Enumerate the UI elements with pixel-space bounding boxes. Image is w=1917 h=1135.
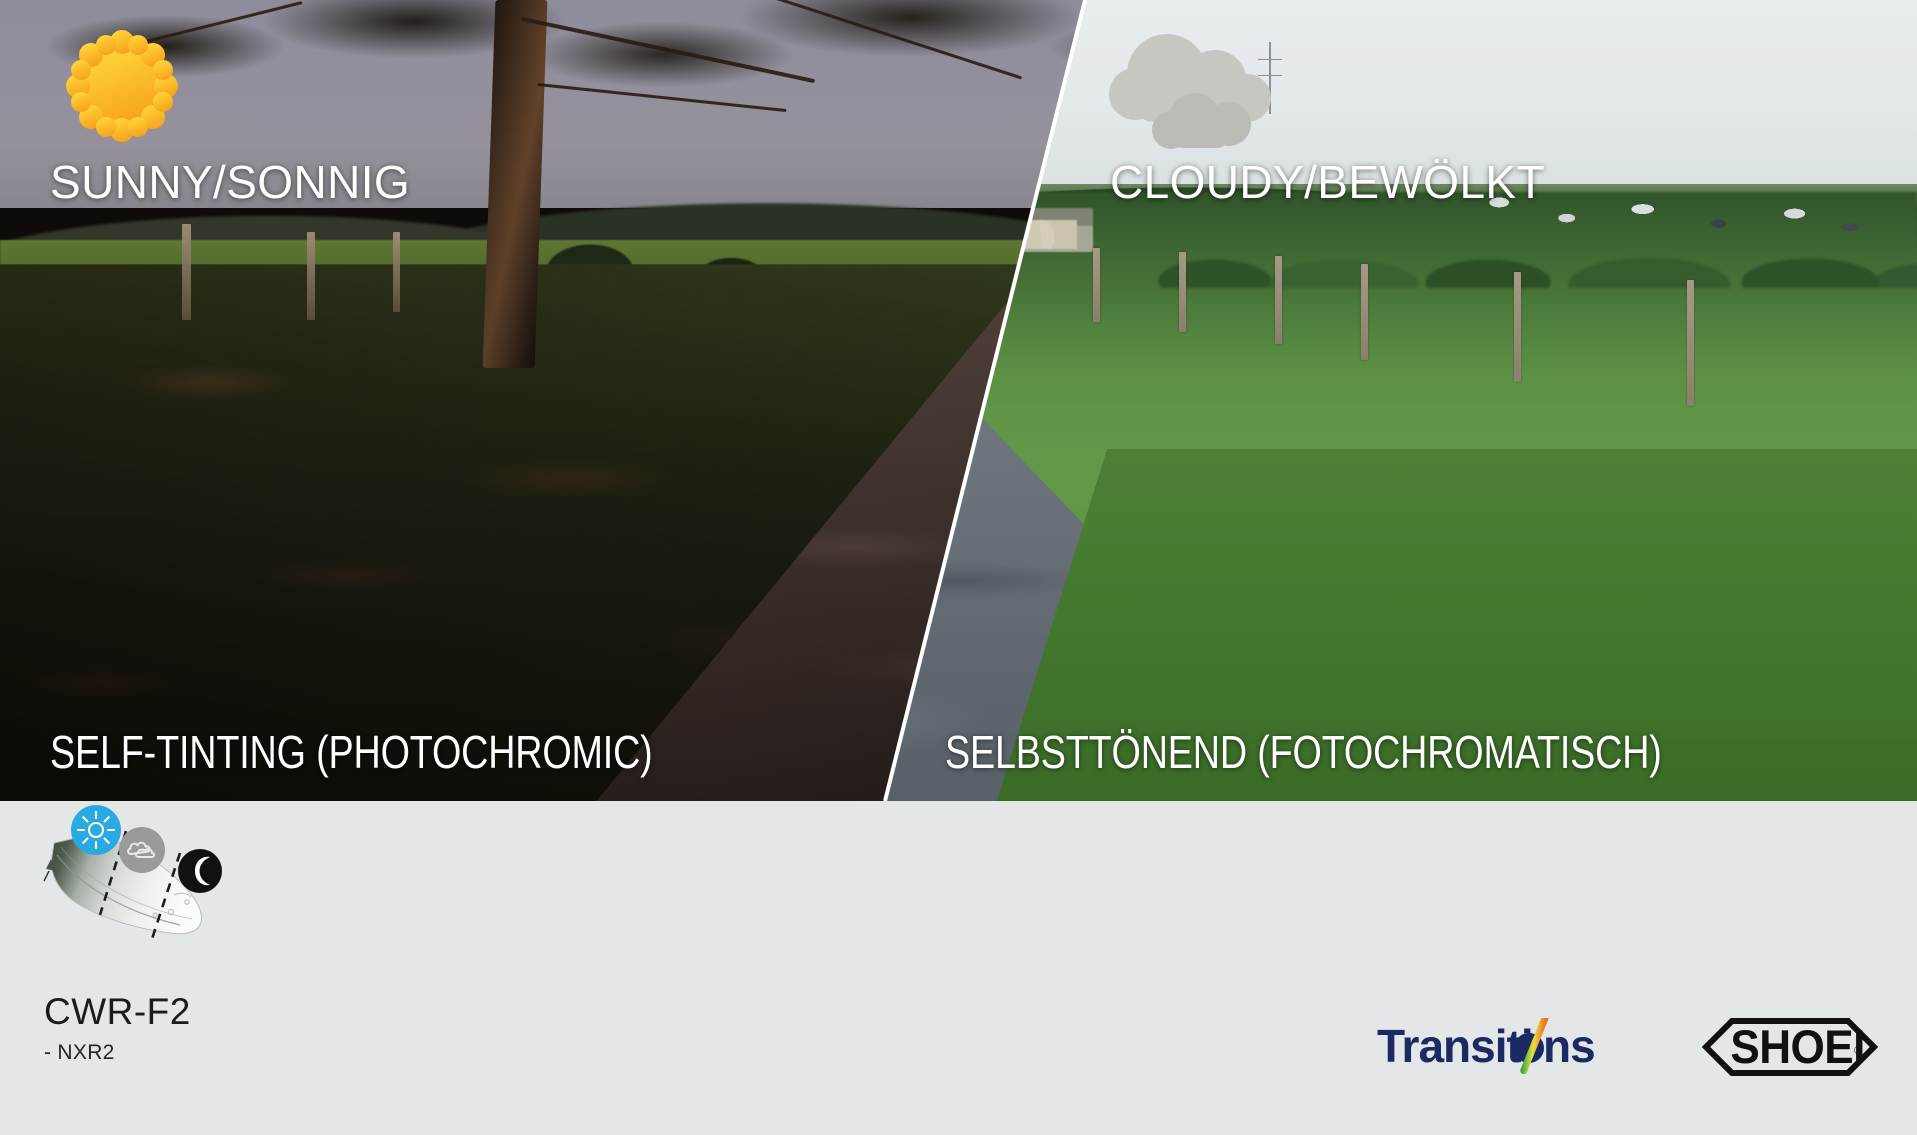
product-model: CWR-F2 [44,993,191,1030]
fence-post [1093,248,1100,322]
visor-moon-icon [178,849,222,893]
fence-post [1514,272,1521,382]
hero-comparison-image: SUNNY/SONNIG CLOUDY/BEWÖLKT SELF-TINTING… [0,0,1917,801]
fence-post [1179,252,1186,332]
fence-post [1275,256,1282,344]
fence-post [1361,264,1368,360]
svg-text:®: ® [1854,1045,1862,1057]
visor-cloud-icon [119,827,165,873]
fence-post [1687,280,1694,406]
svg-text:ns: ns [1543,1020,1595,1072]
product-name-block: CWR-F2 - NXR2 [44,993,191,1065]
sun-icon [62,26,178,142]
hedgerow-treeline [1150,216,1917,288]
self-tinting-label: SELF-TINTING (PHOTOCHROMIC) [50,725,653,779]
transitions-logo: Transiti ns [1377,1018,1609,1076]
product-info-panel: CWR-F2 - NXR2 [0,801,1917,1135]
visor-sun-icon [71,805,121,855]
svg-text:Transiti: Transiti [1377,1020,1533,1072]
screenshot-root: SUNNY/SONNIG CLOUDY/BEWÖLKT SELF-TINTING… [0,0,1917,1135]
cloudy-weather-label: CLOUDY/BEWÖLKT [1110,155,1545,209]
selbsttoenend-label: SELBSTTÖNEND (FOTOCHROMATISCH) [945,725,1662,779]
sunny-weather-label: SUNNY/SONNIG [50,155,410,209]
product-compatibility: - NXR2 [44,1041,191,1065]
shoei-logo: SHOEI ® [1702,1018,1878,1076]
visor-illustration [34,807,244,987]
svg-text:SHOEI: SHOEI [1730,1020,1865,1073]
clouds-icon [1095,20,1287,146]
